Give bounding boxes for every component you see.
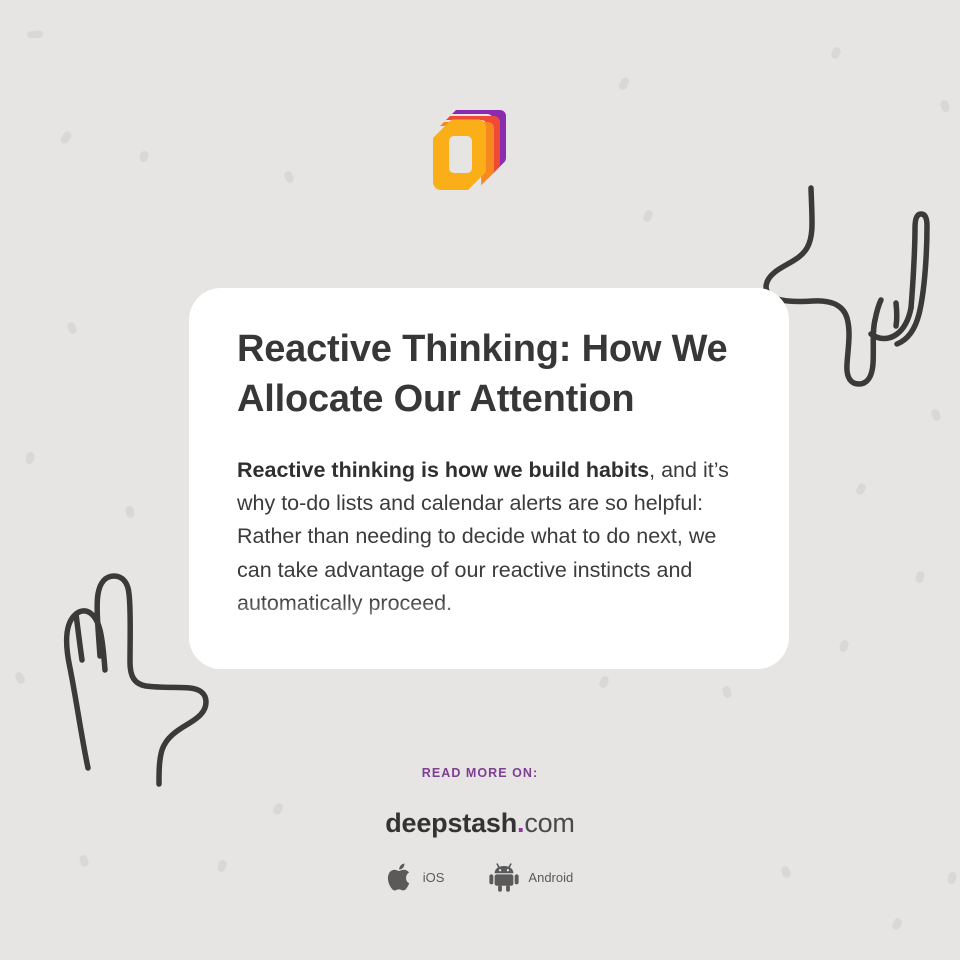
background-speckle bbox=[14, 671, 27, 685]
background-speckle bbox=[930, 408, 942, 422]
apple-icon bbox=[387, 861, 415, 893]
wordmark-tld: com bbox=[524, 808, 574, 838]
deepstash-logo bbox=[430, 106, 516, 194]
background-speckle bbox=[830, 46, 842, 60]
card-body-text: Reactive thinking is how we build habits… bbox=[237, 454, 741, 620]
background-speckle bbox=[66, 321, 78, 335]
background-speckle bbox=[838, 639, 849, 653]
deepstash-wordmark[interactable]: deepstash.com bbox=[0, 808, 960, 839]
android-store-badge[interactable]: Android bbox=[488, 861, 573, 893]
page-title: Reactive Thinking: How We Allocate Our A… bbox=[237, 324, 741, 424]
pointing-hand-up-illustration bbox=[18, 558, 213, 793]
footer: READ MORE ON: deepstash.com iOS bbox=[0, 766, 960, 893]
background-speckle bbox=[855, 482, 867, 496]
ios-store-label: iOS bbox=[423, 870, 445, 885]
background-speckle bbox=[59, 130, 73, 145]
android-icon bbox=[488, 861, 520, 893]
store-badges: iOS And bbox=[0, 861, 960, 893]
logo-layer-amber bbox=[433, 119, 486, 190]
background-speckle bbox=[617, 76, 630, 91]
ios-store-badge[interactable]: iOS bbox=[387, 861, 445, 893]
background-speckle bbox=[721, 685, 733, 699]
card-body-lead: Reactive thinking is how we build habits bbox=[237, 458, 649, 482]
background-speckle bbox=[25, 451, 36, 465]
background-speckle bbox=[598, 675, 610, 689]
read-more-label: READ MORE ON: bbox=[0, 766, 960, 780]
background-speckle bbox=[283, 170, 295, 184]
background-speckle bbox=[642, 209, 654, 223]
poster-canvas: Reactive Thinking: How We Allocate Our A… bbox=[0, 0, 960, 960]
card-body-truncated: And when the cue is present, the habit i… bbox=[237, 641, 741, 669]
background-speckle bbox=[939, 99, 950, 113]
idea-card[interactable]: Reactive Thinking: How We Allocate Our A… bbox=[189, 288, 789, 669]
wordmark-brand: deepstash bbox=[385, 808, 517, 838]
background-speckle bbox=[138, 150, 149, 163]
background-speckle bbox=[125, 505, 136, 519]
background-speckle bbox=[915, 570, 926, 584]
background-speckle bbox=[27, 30, 43, 38]
android-store-label: Android bbox=[528, 870, 573, 885]
background-speckle bbox=[891, 917, 903, 931]
